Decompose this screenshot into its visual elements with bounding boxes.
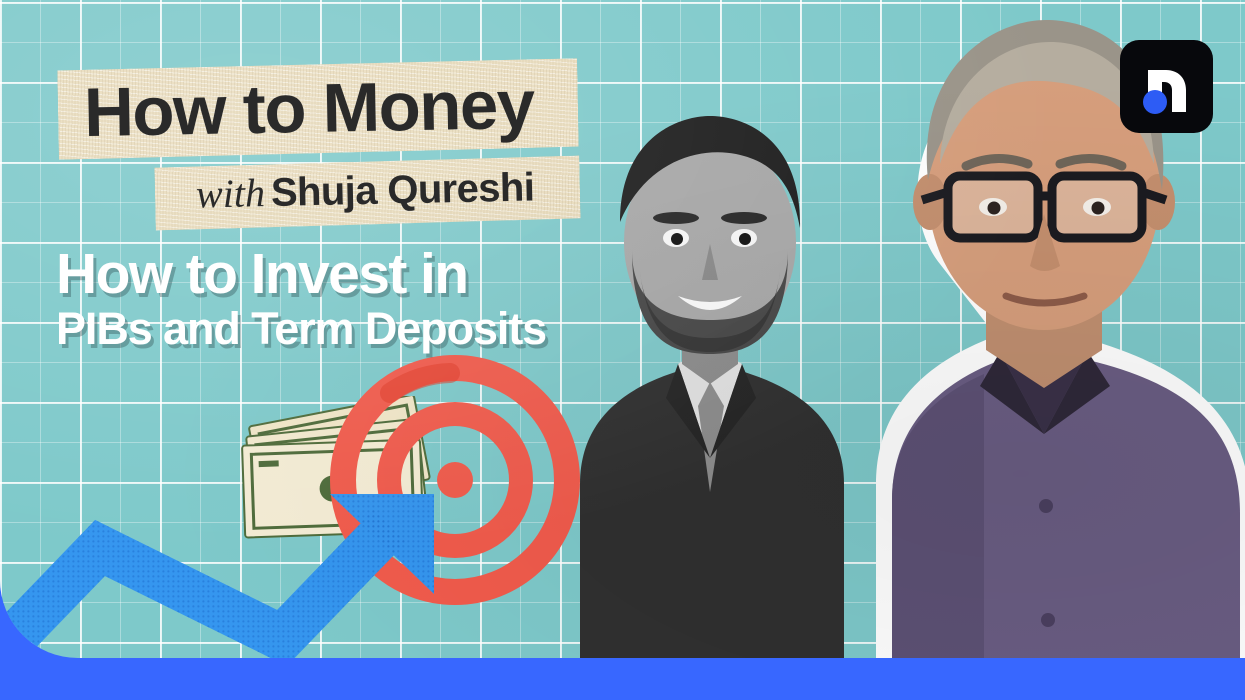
show-title: How to Money <box>83 70 534 148</box>
bottom-accent-bar <box>0 658 1245 700</box>
episode-headline: How to Invest in PIBs and Term Deposits <box>56 244 546 354</box>
logo-mark-icon <box>1120 40 1213 133</box>
nayapay-logo <box>1120 40 1213 133</box>
headline-line-1: How to Invest in <box>56 244 546 304</box>
host-byline: withShuja Qureshi <box>196 166 535 215</box>
byline-host-name: Shuja Qureshi <box>270 165 534 215</box>
background-panel: How to Money withShuja Qureshi How to In… <box>0 0 1245 658</box>
byline-with-word: with <box>196 170 272 217</box>
headline-line-2: PIBs and Term Deposits <box>56 304 546 354</box>
growth-arrow-illustration <box>0 470 502 658</box>
thumbnail-canvas: How to Money withShuja Qureshi How to In… <box>0 0 1245 700</box>
